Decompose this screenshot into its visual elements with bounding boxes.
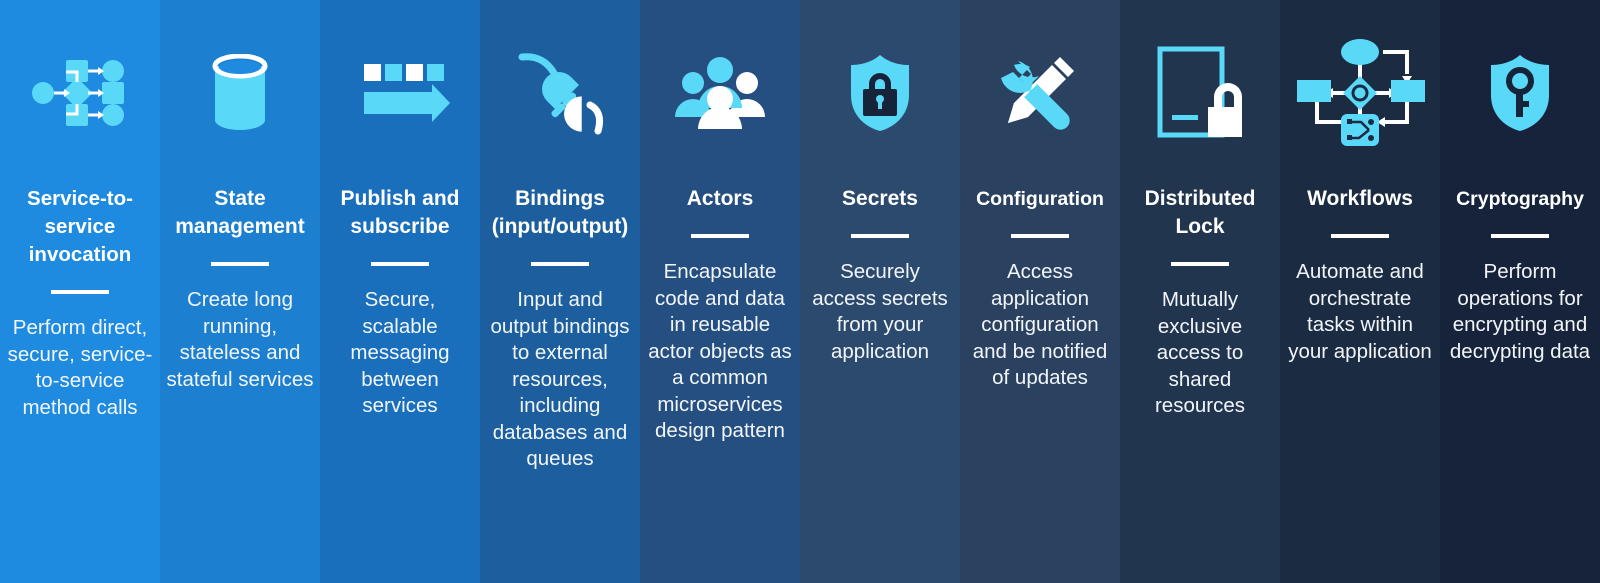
feature-column-publish-subscribe[interactable]: Publish and subscribe Secure, scalable m… [320, 0, 480, 583]
feature-description: Create long running, stateless and state… [166, 287, 314, 393]
feature-title: Service-to-service invocation [6, 185, 154, 269]
feature-description: Access application configuration and be … [966, 259, 1114, 392]
feature-title: Configuration [966, 185, 1114, 213]
feature-column-distributed-lock[interactable]: Distributed Lock Mutually exclusive acce… [1120, 0, 1280, 583]
distributed-lock-icon [1126, 0, 1274, 185]
configuration-wrench-pencil-icon [966, 0, 1114, 185]
feature-title: Distributed Lock [1126, 185, 1274, 241]
actors-people-icon [646, 0, 794, 185]
feature-description: Securely access secrets from your applic… [806, 259, 954, 365]
feature-description: Perform operations for encrypting and de… [1446, 259, 1594, 365]
building-blocks-board: Service-to-service invocation Perform di… [0, 0, 1600, 583]
feature-description: Automate and orchestrate tasks within yo… [1286, 259, 1434, 365]
divider [326, 241, 474, 287]
feature-column-configuration[interactable]: Configuration Access application configu… [960, 0, 1120, 583]
feature-title: Actors [646, 185, 794, 213]
feature-title: Bindings (input/output) [486, 185, 634, 241]
feature-column-workflows[interactable]: Workflows Automate and orchestrate tasks… [1280, 0, 1440, 583]
divider [646, 213, 794, 259]
service-invocation-icon [6, 0, 154, 185]
feature-title: Workflows [1286, 185, 1434, 213]
divider [486, 241, 634, 287]
cryptography-shield-key-icon [1446, 0, 1594, 185]
feature-title: Publish and subscribe [326, 185, 474, 241]
divider [6, 269, 154, 315]
feature-title: Secrets [806, 185, 954, 213]
divider [1446, 213, 1594, 259]
feature-description: Input and output bindings to external re… [486, 287, 634, 473]
divider [1286, 213, 1434, 259]
divider [966, 213, 1114, 259]
workflows-flowchart-icon [1286, 0, 1434, 185]
divider [1126, 241, 1274, 287]
feature-column-secrets[interactable]: Secrets Securely access secrets from you… [800, 0, 960, 583]
feature-column-service-invocation[interactable]: Service-to-service invocation Perform di… [0, 0, 160, 583]
feature-column-actors[interactable]: Actors Encapsulate code and data in reus… [640, 0, 800, 583]
divider [166, 241, 314, 287]
feature-column-state-management[interactable]: State management Create long running, st… [160, 0, 320, 583]
feature-description: Mutually exclusive access to shared reso… [1126, 287, 1274, 420]
publish-subscribe-icon [326, 0, 474, 185]
state-management-icon [166, 0, 314, 185]
secrets-shield-lock-icon [806, 0, 954, 185]
divider [806, 213, 954, 259]
feature-column-bindings[interactable]: Bindings (input/output) Input and output… [480, 0, 640, 583]
feature-title: State management [166, 185, 314, 241]
feature-title: Cryptography [1446, 185, 1594, 213]
feature-description: Encapsulate code and data in reusable ac… [646, 259, 794, 445]
feature-description: Perform direct, secure, service-to-servi… [6, 315, 154, 421]
feature-column-cryptography[interactable]: Cryptography Perform operations for encr… [1440, 0, 1600, 583]
bindings-plug-icon [486, 0, 634, 185]
feature-description: Secure, scalable messaging between servi… [326, 287, 474, 420]
